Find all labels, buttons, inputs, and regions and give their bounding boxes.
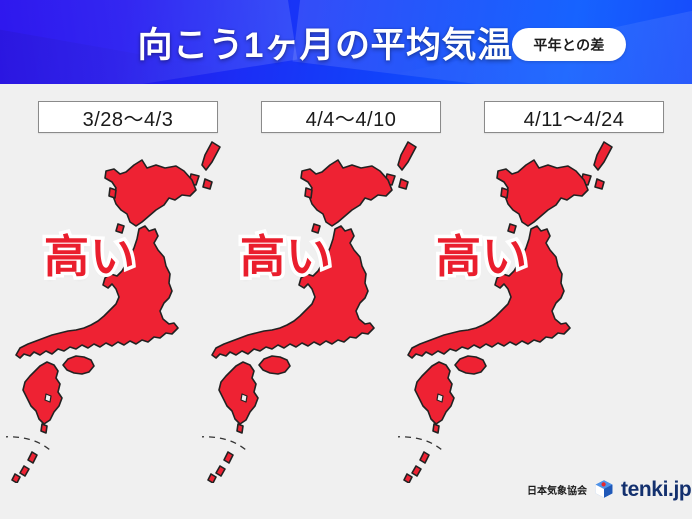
map-panel-3: 高い 高い [398,138,628,483]
forecast-label-text: 高い [412,224,552,280]
forecast-label-2: 高い 高い [216,224,356,280]
footer-credit: 日本気象協会 tenki.jp [527,476,691,502]
forecast-infographic: 向こう1ヶ月の平均気温 平年との差 3/28〜4/3 4/4〜4/10 4/11… [0,0,692,519]
tenki-cube-logo [594,479,614,499]
okinawa-inset-divider [6,437,50,450]
forecast-label-3: 高い 高い [412,224,552,280]
forecast-label-text: 高い [20,224,160,280]
period-label-2: 4/4〜4/10 [261,101,441,133]
okinawa-inset-divider [398,437,442,450]
period-label-1: 3/28〜4/3 [38,101,218,133]
anomaly-badge: 平年との差 [512,28,626,61]
forecast-label-1: 高い 高い [20,224,160,280]
japan-map-3 [398,138,628,483]
period-label-3: 4/11〜4/24 [484,101,664,133]
page-title: 向こう1ヶ月の平均気温 [140,14,510,70]
okinawa-inset-divider [202,437,246,450]
association-name: 日本気象協会 [527,482,587,497]
header-banner: 向こう1ヶ月の平均気温 平年との差 [0,0,692,84]
brand-name: tenki.jp [621,479,691,500]
forecast-label-text: 高い [216,224,356,280]
